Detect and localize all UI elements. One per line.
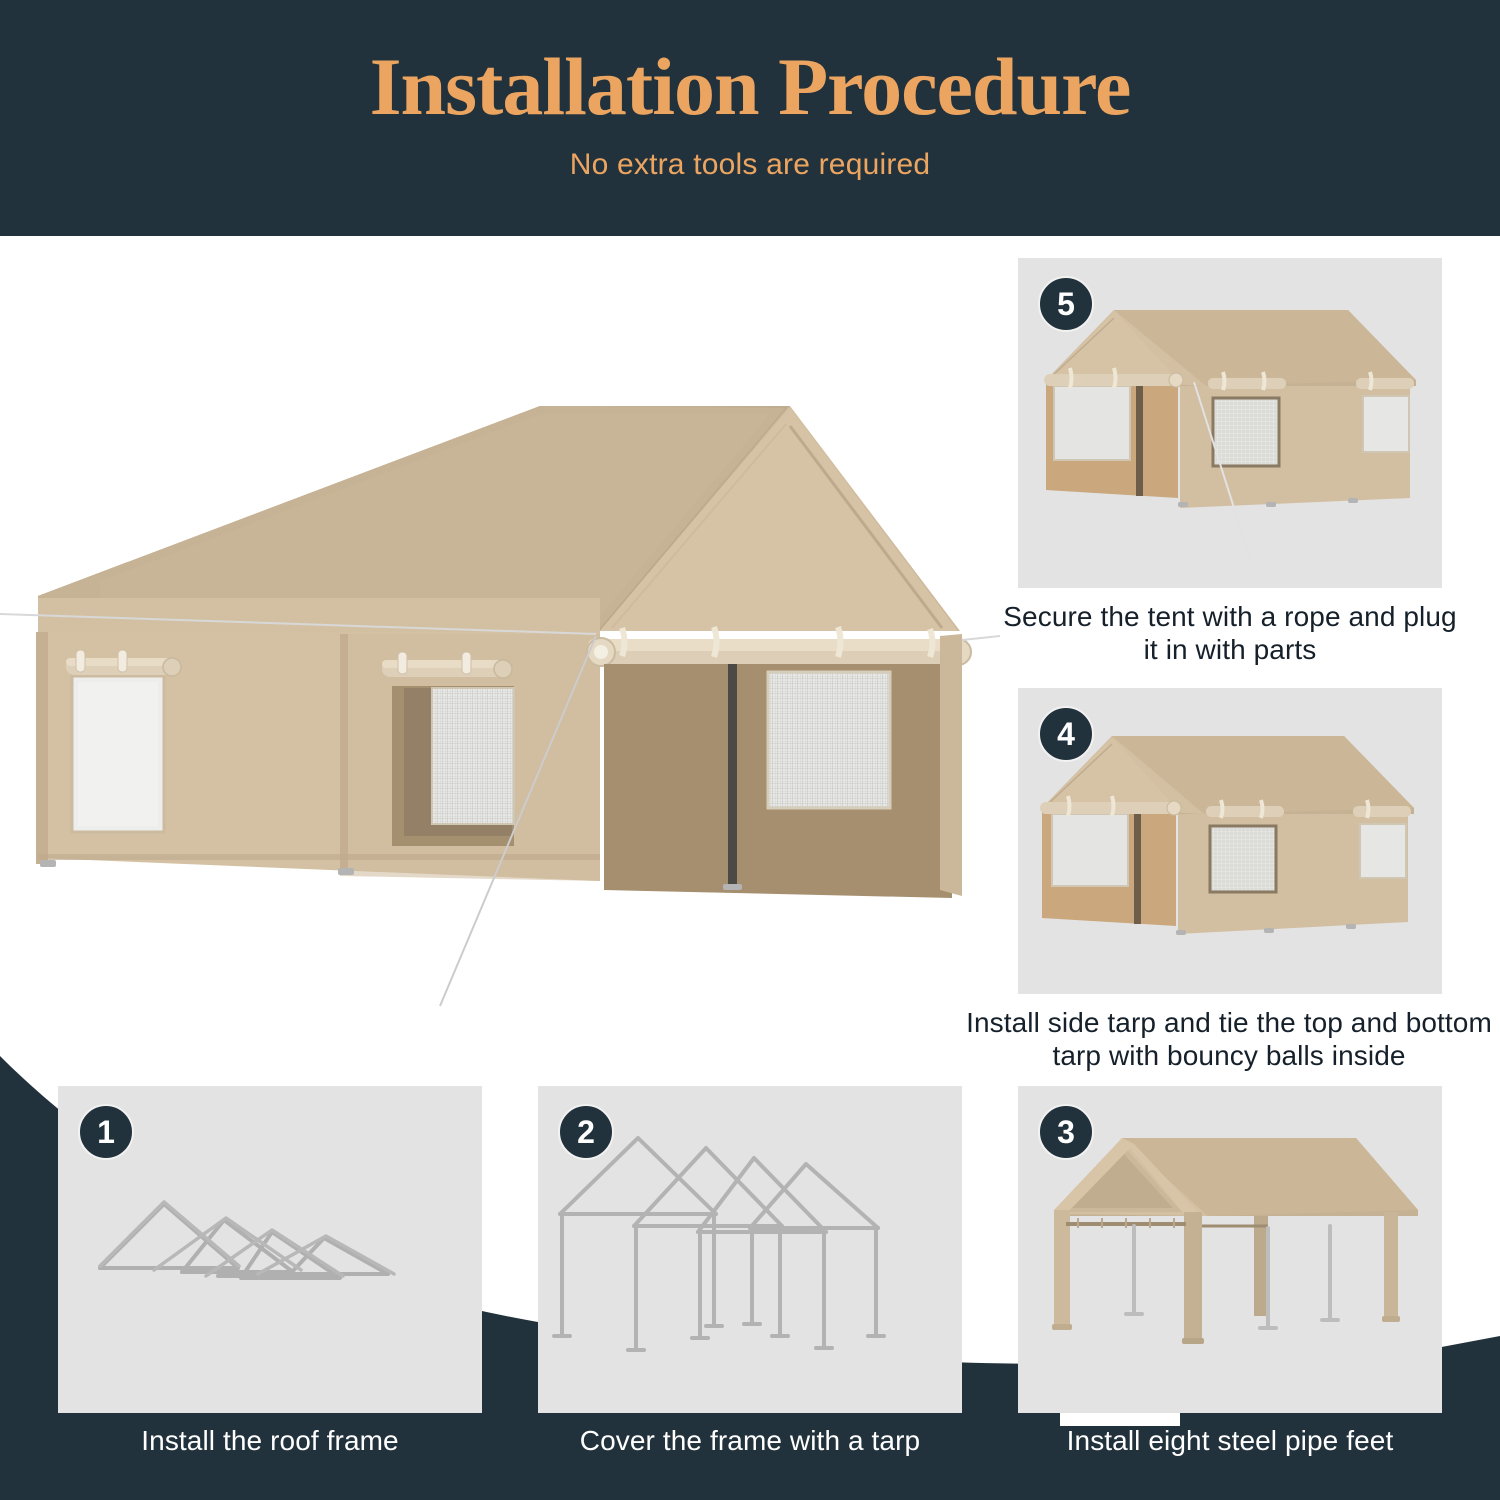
page-header: Installation Procedure No extra tools ar… (0, 0, 1500, 236)
step-1-badge: 1 (78, 1104, 134, 1160)
step-2-number: 2 (577, 1116, 595, 1148)
step-5-caption: Secure the tent with a rope and plug it … (1000, 600, 1460, 666)
step-2-caption: Cover the frame with a tarp (520, 1424, 980, 1457)
step-4-badge: 4 (1038, 706, 1094, 762)
step-2-badge: 2 (558, 1104, 614, 1160)
step-5-badge: 5 (1038, 276, 1094, 332)
hero-tent-illustration (0, 236, 1000, 1066)
page-title: Installation Procedure (0, 44, 1500, 130)
step-5-number: 5 (1057, 288, 1075, 320)
page-subtitle: No extra tools are required (0, 148, 1500, 182)
step-1-caption: Install the roof frame (40, 1424, 500, 1457)
step-3-number: 3 (1057, 1116, 1075, 1148)
hero-front-roll-bar (587, 627, 971, 666)
step-4-caption: Install side tarp and tie the top and bo… (958, 1006, 1500, 1072)
step-3-badge: 3 (1038, 1104, 1094, 1160)
step-1-number: 1 (97, 1116, 115, 1148)
step-3-caption: Install eight steel pipe feet (1000, 1424, 1460, 1457)
step-4-number: 4 (1057, 718, 1075, 750)
